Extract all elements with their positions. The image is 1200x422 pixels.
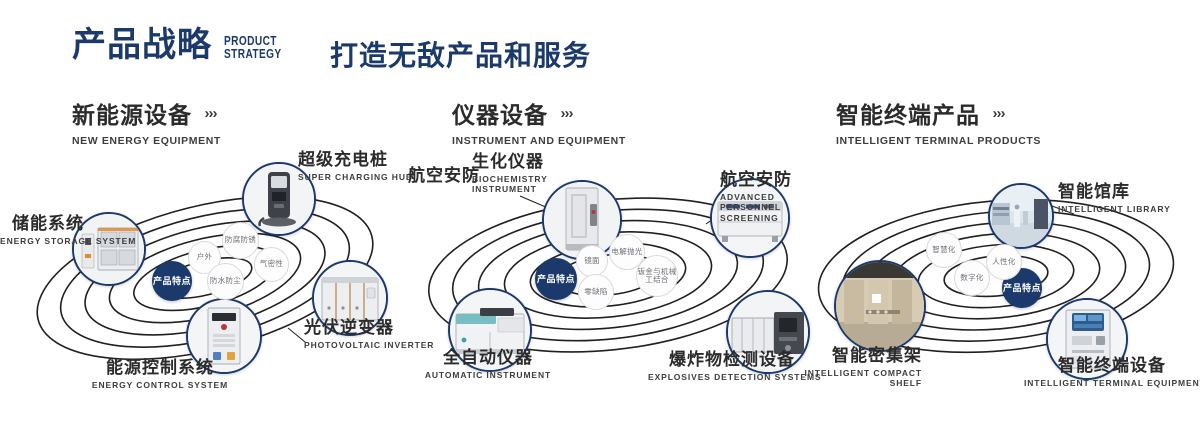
section-title-new-energy: 新能源设备 ››› NEW ENERGY EQUIPMENT	[72, 96, 221, 147]
feature-bubble-humanized: 人性化	[986, 244, 1022, 280]
label-super-charging-hub: 超级充电桩 SUPER CHARGING HUB	[298, 150, 413, 182]
section-title-instrument: 仪器设备 ››› INSTRUMENT AND EQUIPMENT	[452, 96, 626, 147]
page-title: 产品战略	[72, 28, 212, 62]
node-intelligent-compact-shelf[interactable]	[834, 260, 926, 352]
feature-center-bubble[interactable]: 产品特点	[152, 261, 192, 301]
feature-label: 镜面	[584, 257, 600, 265]
label-biochemistry-instrument: 生化仪器 BIOCHEMISTRY INSTRUMENT	[472, 152, 550, 195]
label-cn: 智能密集架	[800, 346, 922, 366]
label-cn: 航空安防	[408, 166, 480, 186]
diagram-instrument: 产品特点 镜面 电解抛光 钣金与机械工结合 零缺陷 航空安防 生化仪器 BIOC…	[400, 150, 820, 400]
label-cn: 智能终端设备	[1024, 356, 1200, 376]
feature-label: 户外	[197, 253, 213, 261]
diagram-intelligent-terminal: 产品特点 智慧化 数字化 人性化 智能馆库 INTELLIGENT LIBRAR…	[800, 150, 1200, 400]
feature-label: 电解抛光	[611, 248, 642, 256]
section-title-cn: 仪器设备	[452, 96, 548, 130]
section-title-cn: 新能源设备	[72, 96, 192, 130]
label-cn: 超级充电桩	[298, 150, 413, 170]
label-cn: 全自动仪器	[412, 348, 564, 368]
label-en: INTELLIGENT COMPACT SHELF	[800, 368, 922, 389]
feature-label: 钣金与机械工结合	[637, 268, 677, 285]
section-title-intelligent-terminal: 智能终端产品 ››› INTELLIGENT TERMINAL PRODUCTS	[836, 96, 1041, 147]
section-title-cn: 智能终端产品	[836, 96, 980, 130]
chevron-right-triple-icon: ›››	[560, 105, 572, 122]
feature-center-label: 产品特点	[153, 276, 191, 286]
label-en: BIOCHEMISTRY INSTRUMENT	[472, 174, 550, 195]
feature-label: 数字化	[960, 274, 983, 282]
label-energy-control-system: 能源控制系统 ENERGY CONTROL SYSTEM	[80, 358, 240, 390]
feature-center-bubble[interactable]: 产品特点	[535, 258, 577, 300]
label-explosives-detection: 爆炸物检测设备 EXPLOSIVES DETECTION SYSTEMS	[648, 350, 816, 382]
node-intelligent-library[interactable]	[988, 183, 1054, 249]
feature-center-label: 产品特点	[537, 274, 575, 284]
label-cn: 爆炸物检测设备	[648, 350, 816, 370]
label-en: INTELLIGENT TERMINAL EQUIPMENT	[1024, 378, 1200, 389]
page-title-english-line2: STRATEGY	[224, 47, 282, 60]
page-subtitle: 打造无敌产品和服务	[330, 34, 591, 74]
feature-bubble-sheetmetal: 钣金与机械工结合	[636, 255, 678, 297]
library-interior-photo	[990, 185, 1052, 247]
product-strategy-infographic: 产品战略 PRODUCT STRATEGY 打造无敌产品和服务 新能源设备 ››…	[0, 0, 1200, 422]
feature-label: 防水防尘	[210, 277, 241, 285]
label-cn: 能源控制系统	[80, 358, 240, 378]
feature-label: 零缺陷	[584, 288, 607, 296]
label-en: EXPLOSIVES DETECTION SYSTEMS	[648, 372, 816, 383]
feature-bubble-waterproof: 防水防尘	[207, 263, 244, 300]
label-intelligent-library: 智能馆库 INTELLIGENT LIBRARY	[1058, 182, 1171, 214]
label-en: AUTOMATIC INSTRUMENT	[412, 370, 564, 381]
page-title-english: PRODUCT STRATEGY	[224, 34, 282, 60]
feature-label: 智慧化	[932, 246, 955, 254]
feature-bubble-airtight: 气密性	[254, 247, 289, 282]
section-title-en: INTELLIGENT TERMINAL PRODUCTS	[836, 135, 1041, 147]
diagram-new-energy: 产品特点 户外 防腐防锈 防水防尘 气密性 储能系统 ENERGY STORAG…	[0, 150, 410, 400]
label-en: ADVANCED PERSONNEL SCREENING	[720, 192, 812, 224]
battery-cabinet-photo	[74, 214, 144, 284]
section-title-en: NEW ENERGY EQUIPMENT	[72, 135, 221, 147]
label-automatic-instrument: 全自动仪器 AUTOMATIC INSTRUMENT	[412, 348, 564, 380]
label-energy-storage-system: 储能系统 ENERGY STORAGE SYSTEM	[0, 214, 84, 246]
label-cn: 航空安防	[720, 170, 812, 190]
label-en: ENERGY STORAGE SYSTEM	[0, 236, 84, 247]
feature-bubble-digital: 数字化	[954, 260, 990, 296]
label-cn: 智能馆库	[1058, 182, 1171, 202]
label-aviation-security-left: 航空安防	[408, 166, 480, 186]
label-cn: 生化仪器	[472, 152, 550, 172]
label-en: SUPER CHARGING HUB	[298, 172, 413, 183]
compact-shelf-photo	[836, 262, 924, 350]
feature-center-label: 产品特点	[1003, 283, 1041, 293]
feature-label: 气密性	[260, 260, 283, 268]
feature-bubble-anticorrosion: 防腐防锈	[222, 222, 259, 259]
chevron-right-triple-icon: ›››	[204, 105, 216, 122]
label-cn: 储能系统	[0, 214, 84, 234]
label-en: ENERGY CONTROL SYSTEM	[80, 380, 240, 391]
label-advanced-personnel-screening: 航空安防 ADVANCED PERSONNEL SCREENING	[720, 170, 812, 223]
page-header: 产品战略 PRODUCT STRATEGY	[72, 28, 298, 62]
label-intelligent-compact-shelf: 智能密集架 INTELLIGENT COMPACT SHELF	[800, 346, 922, 389]
label-en: INTELLIGENT LIBRARY	[1058, 204, 1171, 215]
label-intelligent-terminal-equipment: 智能终端设备 INTELLIGENT TERMINAL EQUIPMENT	[1024, 356, 1200, 388]
feature-bubble-intelligent: 智慧化	[926, 232, 962, 268]
feature-label: 防腐防锈	[225, 236, 256, 244]
feature-bubble-zero-defect: 零缺陷	[578, 274, 614, 310]
feature-bubble-mirror: 镜面	[576, 245, 608, 277]
section-title-en: INSTRUMENT AND EQUIPMENT	[452, 135, 626, 147]
chevron-right-triple-icon: ›››	[992, 105, 1004, 122]
feature-label: 人性化	[992, 258, 1015, 266]
